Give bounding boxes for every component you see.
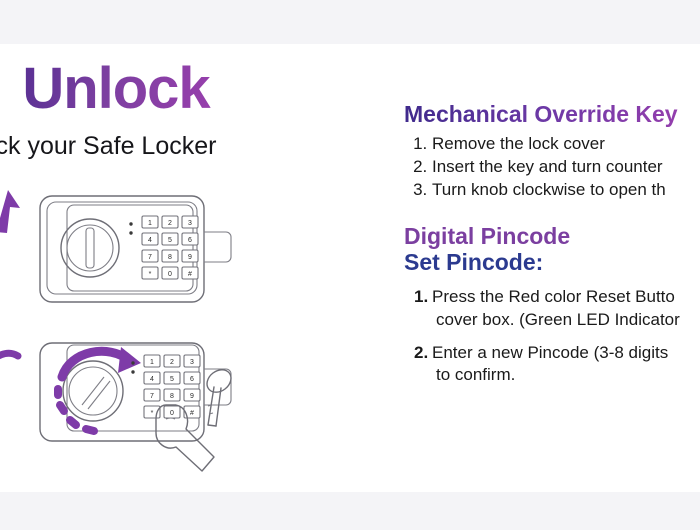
keypad-row-2: 4 5 6 — [144, 372, 200, 384]
svg-text:8: 8 — [168, 254, 172, 261]
svg-text:0: 0 — [168, 271, 172, 278]
top-gray-band — [0, 0, 700, 44]
svg-text:5: 5 — [168, 237, 172, 244]
safe-figure-1: 1 2 3 4 5 6 7 8 9 * — [0, 184, 270, 319]
safe-body-outline — [40, 196, 204, 302]
svg-text:*: * — [151, 410, 154, 417]
svg-text:9: 9 — [190, 393, 194, 400]
keypad-row-1: 1 2 3 — [144, 355, 200, 367]
svg-text:9: 9 — [188, 254, 192, 261]
svg-text:1: 1 — [150, 359, 154, 366]
lock-cover-arrow-icon — [0, 190, 20, 233]
svg-text:6: 6 — [188, 237, 192, 244]
svg-text:6: 6 — [190, 376, 194, 383]
svg-text:2: 2 — [168, 220, 172, 227]
mechanical-key-icon — [203, 365, 236, 426]
svg-text:5: 5 — [170, 376, 174, 383]
led-indicators — [129, 222, 132, 234]
infographic-page: Unlock ck your Safe Locker — [0, 0, 700, 530]
led-indicators — [131, 361, 134, 373]
list-item-line-1: Enter a new Pincode (3-8 digits — [432, 343, 668, 362]
svg-text:1: 1 — [148, 220, 152, 227]
svg-text:4: 4 — [150, 376, 154, 383]
keypad-row-1: 1 2 3 — [142, 216, 198, 228]
list-item: Turn knob clockwise to open th — [432, 179, 700, 202]
bottom-gray-band — [0, 492, 700, 530]
svg-text:0: 0 — [170, 410, 174, 417]
safe-figure-2: 1 2 3 4 5 6 7 8 9 * — [0, 329, 280, 494]
list-item: Insert the key and turn counter — [432, 156, 700, 179]
safe-knob-icon — [61, 219, 119, 277]
keypad-row-2: 4 5 6 — [142, 233, 198, 245]
keypad-row-4: * 0 # — [142, 267, 198, 279]
keypad: 1 2 3 4 5 6 7 8 9 * — [142, 216, 198, 279]
svg-text:#: # — [188, 271, 192, 278]
keypad-row-3: 7 8 9 — [144, 389, 200, 401]
svg-text:7: 7 — [148, 254, 152, 261]
left-column: Unlock ck your Safe Locker — [0, 44, 400, 492]
svg-text:3: 3 — [190, 359, 194, 366]
page-title: Unlock — [0, 60, 246, 118]
svg-text:8: 8 — [170, 393, 174, 400]
mechanical-steps-list: Remove the lock cover Insert the key and… — [418, 133, 700, 201]
svg-text:7: 7 — [150, 393, 154, 400]
list-item-line-2: to confirm. — [432, 364, 700, 386]
keypad-row-3: 7 8 9 — [142, 250, 198, 262]
keypad-row-4: * 0 # — [144, 406, 200, 418]
svg-text:#: # — [190, 410, 194, 417]
left-edge-arrow-icon — [0, 353, 18, 361]
list-item: Enter a new Pincode (3-8 digits to confi… — [432, 342, 700, 387]
list-item-line-2: cover box. (Green LED Indicator — [432, 309, 700, 331]
mechanical-override-heading: Mechanical Override Key — [404, 102, 700, 127]
list-item: Remove the lock cover — [432, 133, 700, 156]
list-item-line-1: Press the Red color Reset Butto — [432, 287, 675, 306]
svg-text:2: 2 — [170, 359, 174, 366]
right-column: Mechanical Override Key Remove the lock … — [400, 44, 700, 492]
keypad: 1 2 3 4 5 6 7 8 9 * — [144, 355, 200, 418]
lock-cover-flap — [204, 232, 231, 262]
safe-knob-icon — [63, 361, 123, 421]
page-subtitle: ck your Safe Locker — [0, 132, 246, 161]
svg-text:*: * — [149, 271, 152, 278]
set-pincode-heading: Set Pincode: — [404, 250, 700, 276]
svg-text:3: 3 — [188, 220, 192, 227]
pincode-steps-list: Press the Red color Reset Butto cover bo… — [414, 286, 700, 387]
list-item: Press the Red color Reset Butto cover bo… — [432, 286, 700, 331]
svg-text:4: 4 — [148, 237, 152, 244]
digital-pincode-heading: Digital Pincode — [404, 224, 700, 250]
